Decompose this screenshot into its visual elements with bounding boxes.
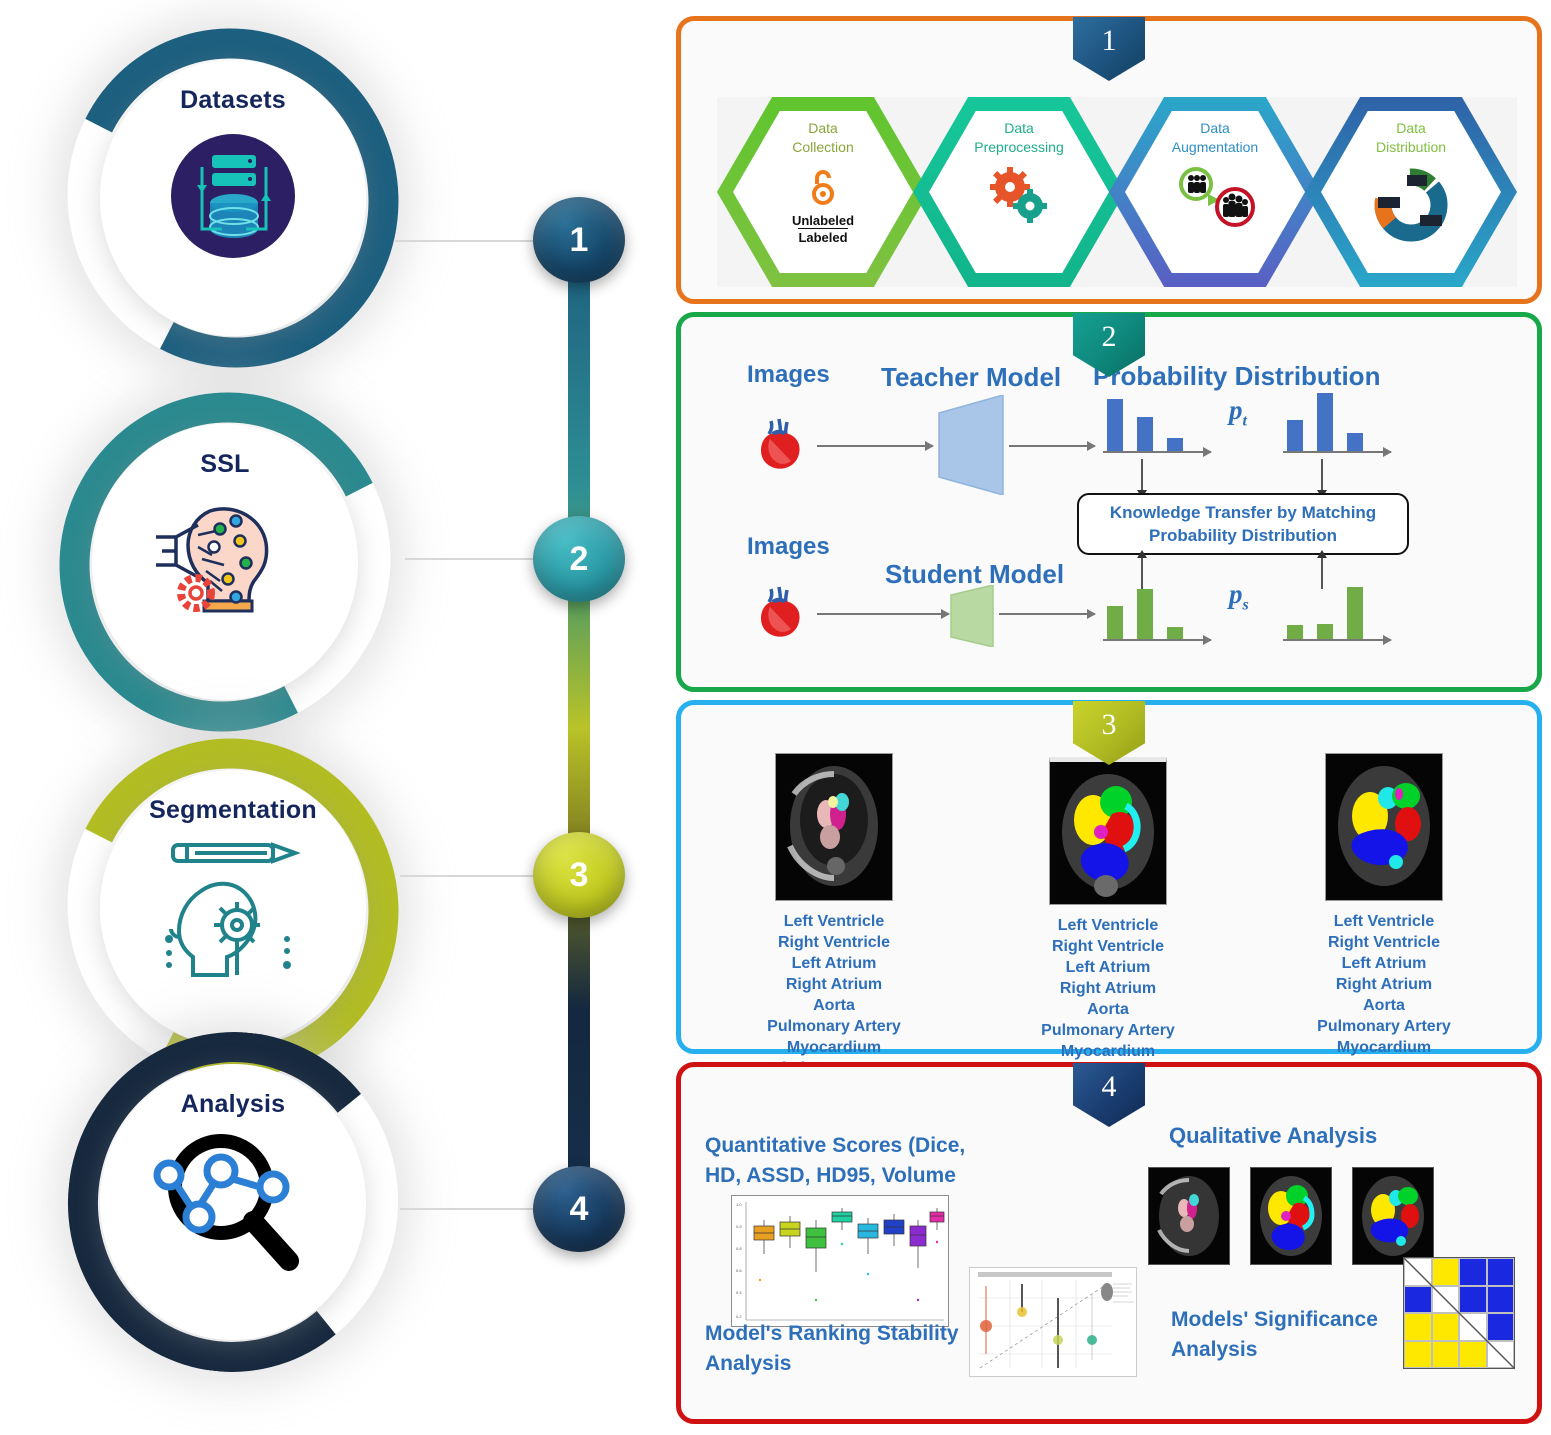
knowledge-transfer-line2: Probability Distribution (1149, 524, 1337, 547)
hex-data-augmentation[interactable]: Data Augmentation (1109, 97, 1321, 287)
knowledge-transfer-line1: Knowledge Transfer by Matching (1110, 501, 1376, 524)
panel-1-banner: 1 (1073, 17, 1145, 81)
pipeline-panels: 1 Data Collection (668, 0, 1551, 1435)
gears-icon (913, 167, 1125, 230)
leader-line-1 (395, 240, 540, 242)
svg-text:0.6: 0.6 (736, 1268, 742, 1273)
svg-text:1.0: 1.0 (736, 1202, 742, 1207)
teacher-right-to-box (1321, 459, 1323, 491)
sig-cell (1459, 1341, 1487, 1369)
panel-segmentation-targets[interactable]: 3 (676, 700, 1542, 1054)
segmentation-labels-2: Left Ventricle Right Ventricle Left Atri… (983, 915, 1233, 1062)
student-input-arrow (817, 613, 949, 615)
hex-1-label: Data Collection (717, 119, 929, 157)
stage-datasets[interactable]: Datasets (28, 18, 448, 418)
timeline-node-1[interactable]: 1 (533, 197, 625, 283)
sig-cell (1459, 1286, 1487, 1314)
segmentation-column-1[interactable]: Left Ventricle Right Ventricle Left Atri… (709, 753, 959, 1079)
knowledge-transfer-box: Knowledge Transfer by Matching Probabili… (1077, 493, 1409, 555)
teacher-left-to-box (1141, 459, 1143, 491)
database-stack-icon (158, 121, 308, 276)
hex-data-preprocessing[interactable]: Data Preprocessing (913, 97, 1125, 287)
sig-cell (1404, 1341, 1432, 1369)
panel-data-pipeline[interactable]: 1 Data Collection (676, 16, 1542, 304)
timeline-spine (568, 228, 590, 1228)
heart-anatomy-icon-teacher (757, 417, 805, 474)
teacher-bars-left (1103, 379, 1215, 457)
sig-cell (1432, 1313, 1460, 1341)
ranking-stability-plot (969, 1267, 1137, 1377)
panel-knowledge-distillation[interactable]: 2 Images Teacher Model Probability Distr… (676, 312, 1542, 692)
models-significance-label: Models' Significance Analysis (1171, 1305, 1411, 1365)
data-pipeline-hex-strip: Data Collection Unlabeled Labeled (717, 97, 1517, 287)
stage-card-2: SSL (92, 424, 358, 700)
images-label-teacher: Images (747, 361, 830, 389)
svg-text:0.4: 0.4 (736, 1290, 742, 1295)
magnifier-network-icon (143, 1125, 323, 1285)
student-model-trapezoid (947, 585, 999, 652)
timeline-node-3-label: 3 (570, 856, 589, 895)
segmentation-column-3[interactable]: Left Ventricle Right Ventricle Left Atri… (1259, 753, 1509, 1058)
hex-1-caption-top: Unlabeled (717, 213, 929, 228)
sig-cell (1432, 1341, 1460, 1369)
open-access-lock-icon: Unlabeled Labeled (717, 167, 929, 245)
significance-matrix (1403, 1257, 1515, 1369)
panel-2-number: 2 (1102, 320, 1117, 354)
timeline-node-3[interactable]: 3 (533, 832, 625, 918)
ranking-stability-label: Model's Ranking Stability Analysis (705, 1319, 1005, 1379)
timeline-node-2-label: 2 (570, 540, 589, 579)
qualitative-image-pred (1352, 1167, 1434, 1265)
stage-title-analysis: Analysis (181, 1090, 285, 1119)
qualitative-thumbnails (1121, 1167, 1461, 1265)
teacher-bars-right (1283, 379, 1395, 457)
qualitative-image-raw (1148, 1167, 1230, 1265)
hex-4-label: Data Distribution (1305, 119, 1517, 157)
leader-line-3 (400, 875, 540, 877)
segmentation-column-2[interactable]: Left Ventricle Right Ventricle Left Atri… (983, 757, 1233, 1062)
timeline-node-4[interactable]: 4 (533, 1166, 625, 1252)
teacher-model-label: Teacher Model (881, 362, 1061, 393)
quantitative-boxplot: 1.00.90.8 0.60.40.2 (731, 1195, 949, 1327)
qualitative-image-gt (1250, 1167, 1332, 1265)
stage-analysis[interactable]: Analysis (28, 1022, 448, 1422)
stage-ssl[interactable]: SSL (20, 382, 440, 782)
p-student-symbol: ps (1229, 579, 1249, 614)
hex-data-collection[interactable]: Data Collection Unlabeled Labeled (717, 97, 929, 287)
sig-cell (1459, 1313, 1487, 1341)
panel-3-number: 3 (1102, 708, 1117, 742)
svg-text:0.9: 0.9 (736, 1224, 742, 1229)
panel-analysis[interactable]: 4 Quantitative Scores (Dice, HD, ASSD, H… (676, 1062, 1542, 1424)
sig-cell (1432, 1258, 1460, 1286)
stage-card-3: Segmentation (100, 770, 366, 1046)
cardiac-mri-raw-icon (775, 753, 893, 901)
hex-3-label: Data Augmentation (1109, 119, 1321, 157)
sig-cell (1487, 1286, 1515, 1314)
segmentation-labels-1: Left Ventricle Right Ventricle Left Atri… (709, 911, 959, 1079)
ai-head-network-icon (140, 485, 310, 650)
sig-cell (1487, 1258, 1515, 1286)
hex-2-label: Data Preprocessing (913, 119, 1125, 157)
images-label-student: Images (747, 533, 830, 561)
panel-1-number: 1 (1102, 24, 1117, 58)
student-output-arrow (999, 613, 1095, 615)
sig-cell (1487, 1341, 1515, 1369)
panel-4-number: 4 (1102, 1070, 1117, 1104)
stage-title-ssl: SSL (200, 450, 249, 479)
stage-card-1: Datasets (100, 60, 366, 336)
teacher-output-arrow (1009, 445, 1095, 447)
hex-1-caption-bottom: Labeled (798, 228, 847, 245)
stage-card-4: Analysis (100, 1064, 366, 1340)
sig-cell (1404, 1258, 1432, 1286)
leader-line-4 (400, 1208, 540, 1210)
sig-cell (1432, 1286, 1460, 1314)
sig-cell (1404, 1286, 1432, 1314)
quantitative-scores-label: Quantitative Scores (Dice, HD, ASSD, HD9… (705, 1131, 1005, 1191)
heart-anatomy-icon-student (757, 585, 805, 642)
stage-title-segmentation: Segmentation (149, 796, 317, 825)
segmentation-labels-3: Left Ventricle Right Ventricle Left Atri… (1259, 911, 1509, 1058)
people-augment-icon (1109, 167, 1321, 234)
qualitative-analysis-label: Qualitative Analysis (1169, 1123, 1377, 1149)
donut-chart-icon (1305, 167, 1517, 248)
stage-title-datasets: Datasets (180, 86, 286, 115)
leader-line-2 (405, 558, 540, 560)
student-bars-right (1283, 567, 1395, 645)
p-teacher-symbol: pt (1229, 395, 1247, 430)
workflow-spiral-column: Datasets (0, 0, 660, 1435)
cardiac-mri-prediction-icon (1325, 753, 1443, 901)
student-bars-left (1103, 567, 1215, 645)
sig-cell (1487, 1313, 1515, 1341)
sig-cell (1404, 1313, 1432, 1341)
sig-cell (1459, 1258, 1487, 1286)
svg-text:0.8: 0.8 (736, 1246, 742, 1251)
hex-data-distribution[interactable]: Data Distribution (1305, 97, 1517, 287)
timeline-node-2[interactable]: 2 (533, 516, 625, 602)
teacher-model-trapezoid (933, 395, 1009, 500)
cardiac-mri-segmented-icon (1049, 757, 1167, 905)
timeline-node-1-label: 1 (570, 221, 589, 260)
timeline-node-4-label: 4 (570, 1190, 589, 1229)
head-pencil-gear-icon (153, 831, 313, 986)
teacher-input-arrow (817, 445, 933, 447)
